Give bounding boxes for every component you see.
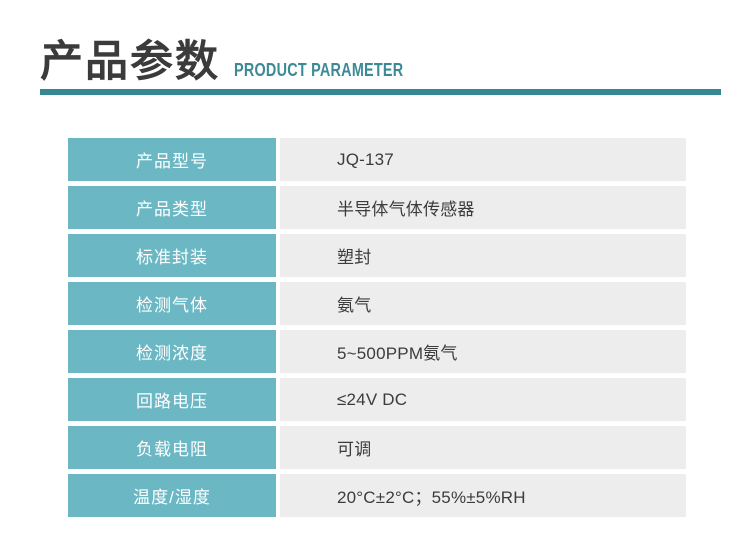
param-label: 产品型号 (68, 138, 276, 181)
table-row: 检测浓度 5~500PPM氨气 (68, 330, 686, 373)
page-title: 产品参数 (40, 41, 220, 84)
table-row: 回路电压 ≤24V DC (68, 378, 686, 421)
param-value: 塑封 (280, 234, 686, 277)
param-label: 温度/湿度 (68, 474, 276, 517)
page-header: 产品参数 PRODUCT PARAMETER (0, 0, 750, 120)
param-value: 半导体气体传感器 (280, 186, 686, 229)
param-value: ≤24V DC (280, 378, 686, 421)
header-title-row: 产品参数 PRODUCT PARAMETER (40, 22, 446, 84)
param-label: 负载电阻 (68, 426, 276, 469)
param-label: 检测气体 (68, 282, 276, 325)
param-value: JQ-137 (280, 138, 686, 181)
table-row: 负载电阻 可调 (68, 426, 686, 469)
param-value: 5~500PPM氨气 (280, 330, 686, 373)
param-label: 标准封装 (68, 234, 276, 277)
product-parameter-table: 产品型号 JQ-137 产品类型 半导体气体传感器 标准封装 塑封 检测气体 氨… (68, 138, 686, 517)
param-value: 可调 (280, 426, 686, 469)
page-subtitle: PRODUCT PARAMETER (234, 61, 403, 79)
table-row: 产品类型 半导体气体传感器 (68, 186, 686, 229)
param-label: 检测浓度 (68, 330, 276, 373)
param-value: 氨气 (280, 282, 686, 325)
param-value: 20°C±2°C；55%±5%RH (280, 474, 686, 517)
table-row: 检测气体 氨气 (68, 282, 686, 325)
table-row: 产品型号 JQ-137 (68, 138, 686, 181)
param-label: 回路电压 (68, 378, 276, 421)
header-divider (40, 89, 721, 95)
table-row: 标准封装 塑封 (68, 234, 686, 277)
table-row: 温度/湿度 20°C±2°C；55%±5%RH (68, 474, 686, 517)
param-label: 产品类型 (68, 186, 276, 229)
